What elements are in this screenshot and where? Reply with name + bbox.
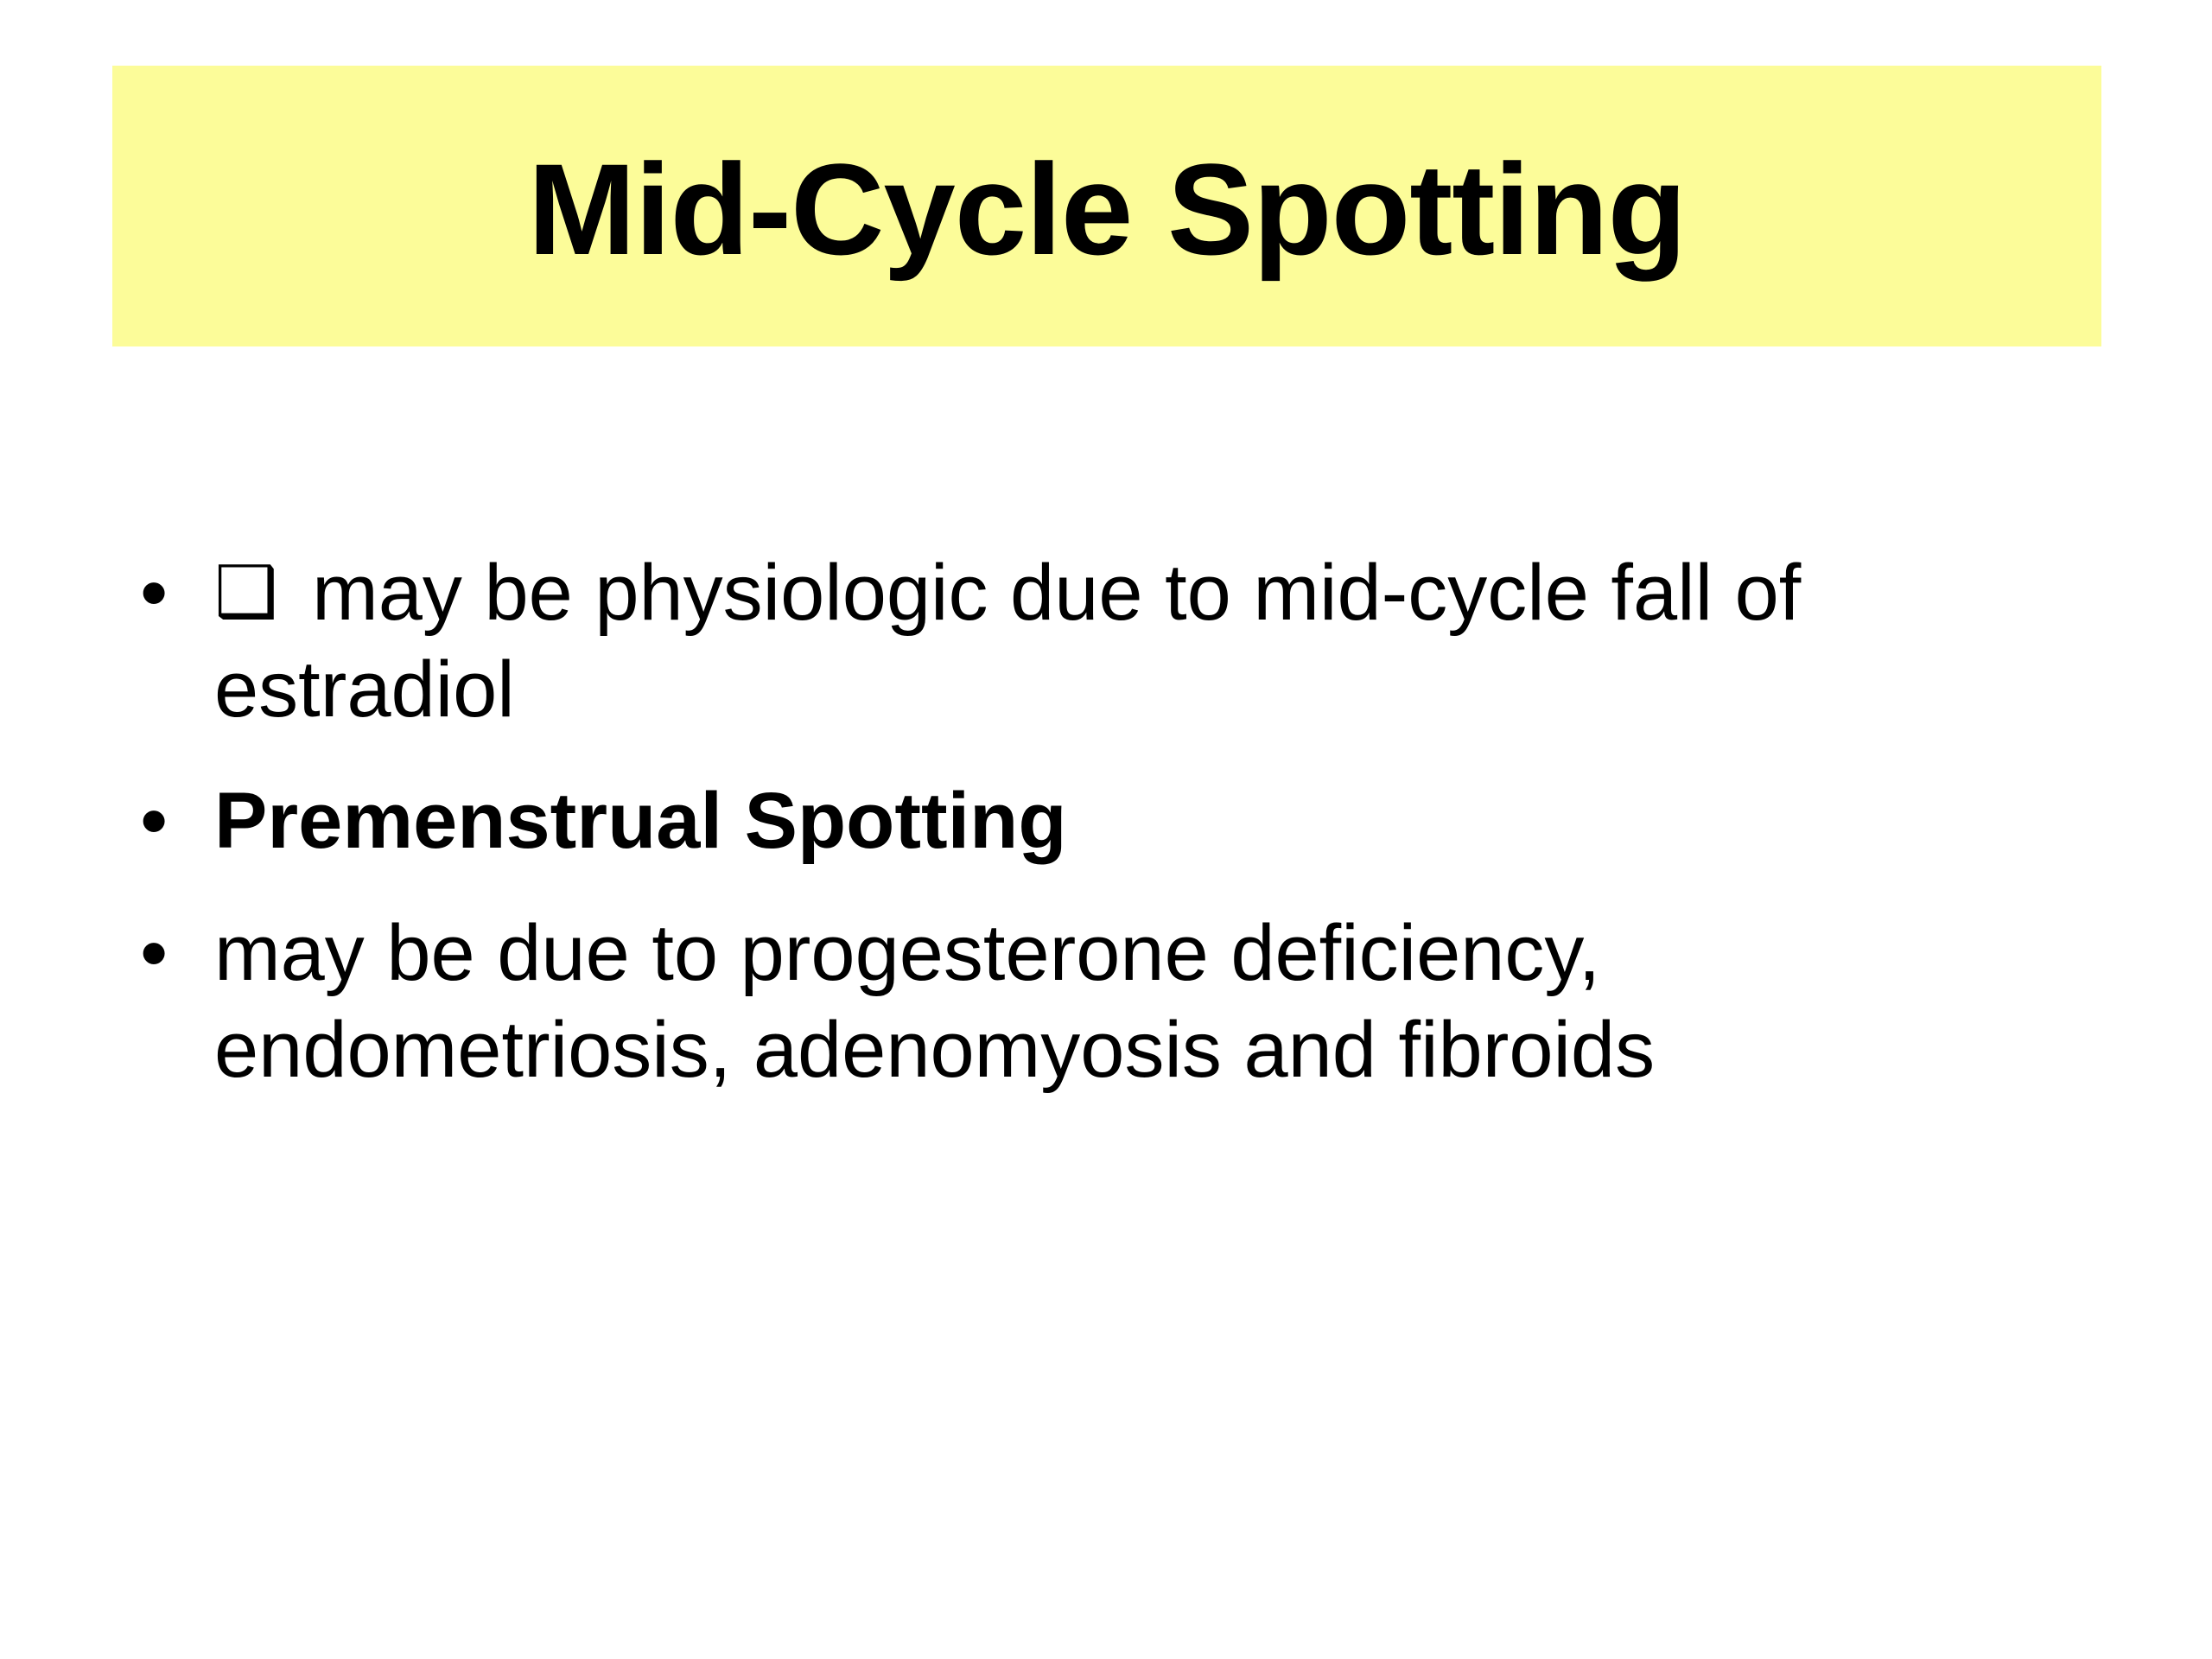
list-item: • ❑ may be physiologic due to mid-cycle …: [121, 544, 2134, 738]
bullet-point-icon: •: [121, 544, 214, 641]
list-item: • may be due to progesterone deficiency,…: [121, 905, 2134, 1098]
title-banner: Mid-Cycle Spotting: [112, 66, 2101, 346]
list-item-label: may be due to progesterone deficiency, e…: [214, 905, 2063, 1098]
slide-title: Mid-Cycle Spotting: [528, 144, 1686, 274]
list-item-content: ❑ may be physiologic due to mid-cycle fa…: [214, 544, 2063, 738]
list-item-label: may be physiologic due to mid-cycle fall…: [214, 549, 1801, 734]
list-item: • Premenstrual Spotting: [121, 772, 2134, 869]
bullet-point-icon: •: [121, 905, 214, 1001]
empty-checkbox-icon: ❑: [214, 551, 290, 633]
bullet-list: • ❑ may be physiologic due to mid-cycle …: [121, 544, 2134, 1098]
bullet-point-icon: •: [121, 772, 214, 869]
list-item-label: Premenstrual Spotting: [214, 772, 2063, 869]
presentation-slide: Mid-Cycle Spotting • ❑ may be physiologi…: [0, 0, 2212, 1659]
